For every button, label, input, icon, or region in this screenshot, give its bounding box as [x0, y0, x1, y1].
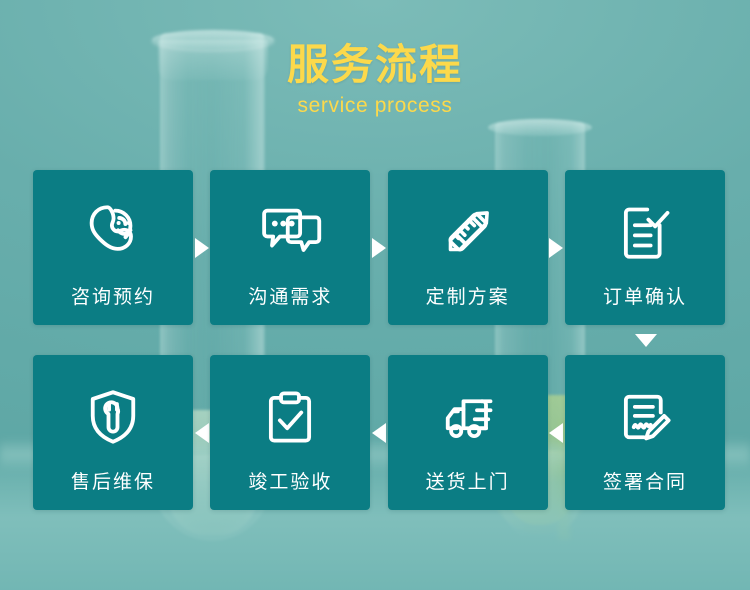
step-card-sign-contract[interactable]: 签署合同: [565, 355, 725, 510]
step-card-label: 售后维保: [71, 473, 155, 492]
flow-arrow-right-2: [370, 238, 387, 258]
page-title-cn: 服务流程: [0, 42, 750, 88]
flow-row-bottom: 售后维保 竣工验收: [33, 355, 725, 510]
shield-wrench-icon: [77, 381, 149, 453]
flow-arrow-left-3: [548, 423, 565, 443]
triangle-down-icon: [635, 334, 657, 347]
delivery-truck-icon: [432, 381, 504, 453]
step-card-delivery[interactable]: 送货上门: [388, 355, 548, 510]
triangle-right-icon: [549, 238, 563, 258]
short-flask-rim: [488, 119, 592, 136]
step-card-label: 咨询预约: [71, 288, 155, 307]
step-card-consultation[interactable]: 咨询预约: [33, 170, 193, 325]
document-check-icon: [609, 196, 681, 268]
flow-arrow-right-3: [548, 238, 565, 258]
page-title-en: service process: [0, 94, 750, 118]
pencil-ruler-icon: [432, 196, 504, 268]
triangle-left-icon: [195, 423, 209, 443]
step-card-label: 沟通需求: [248, 288, 332, 307]
step-card-order-confirm[interactable]: 订单确认: [565, 170, 725, 325]
chat-bubbles-icon: [254, 196, 326, 268]
triangle-right-icon: [195, 238, 209, 258]
step-card-after-sales[interactable]: 售后维保: [33, 355, 193, 510]
step-card-label: 订单确认: [603, 288, 687, 307]
step-card-label: 签署合同: [603, 473, 687, 492]
triangle-left-icon: [372, 423, 386, 443]
flow-row-top: 咨询预约 沟通需求: [33, 170, 725, 325]
step-card-acceptance[interactable]: 竣工验收: [210, 355, 370, 510]
service-process-flow: 咨询预约 沟通需求: [33, 170, 725, 510]
phone-smile-icon: [77, 196, 149, 268]
flow-arrow-left-2: [370, 423, 387, 443]
flow-arrow-left-1: [193, 423, 210, 443]
step-card-label: 竣工验收: [248, 473, 332, 492]
flow-row-connector: [33, 325, 725, 355]
page-header: 服务流程 service process: [0, 42, 750, 118]
step-card-custom-plan[interactable]: 定制方案: [388, 170, 548, 325]
contract-sign-icon: [609, 381, 681, 453]
triangle-right-icon: [372, 238, 386, 258]
step-card-label: 定制方案: [426, 288, 510, 307]
clipboard-check-icon: [254, 381, 326, 453]
flow-arrow-right-1: [193, 238, 210, 258]
step-card-label: 送货上门: [426, 473, 510, 492]
triangle-left-icon: [549, 423, 563, 443]
step-card-communication[interactable]: 沟通需求: [210, 170, 370, 325]
